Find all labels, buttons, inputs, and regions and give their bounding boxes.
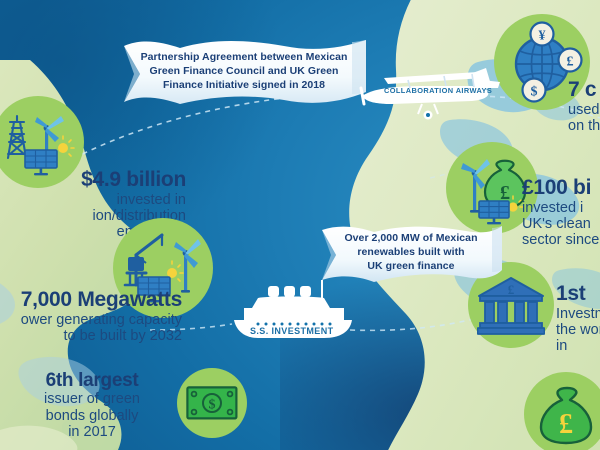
stat-billion-headline: $4.9 billion bbox=[0, 168, 186, 192]
renewables-banner-text: Over 2,000 MW of Mexican renewables buil… bbox=[318, 222, 504, 284]
stat-currencies-headline: 7 c bbox=[568, 78, 600, 102]
airplane: COLLABORATION AIRWAYS bbox=[352, 58, 502, 120]
stat-bonds-line-3: in 2017 bbox=[16, 424, 168, 440]
moneybag-corner-symbol: £ bbox=[559, 409, 573, 440]
pylon-turbine-solar-icon bbox=[1, 108, 75, 176]
stat-bonds-line-2: bonds globally bbox=[16, 408, 168, 424]
stat-currencies-line-2: on th bbox=[568, 118, 600, 134]
stat-investment-rank: 1st Investm the wor in bbox=[556, 282, 600, 354]
stat-megawatts-line-2: to be built by 2032 bbox=[0, 328, 182, 344]
stat-rank-line-2: the wor bbox=[556, 322, 600, 338]
stat-currencies-line-1: used bbox=[568, 102, 600, 118]
stat-rank-line-3: in bbox=[556, 338, 600, 354]
ship-label: S.S. INVESTMENT bbox=[250, 326, 334, 336]
stat-clean-energy-line-1: invested i bbox=[522, 200, 600, 216]
partnership-line-3: Finance Initiative signed in 2018 bbox=[163, 79, 325, 93]
badge-banknote: $ bbox=[177, 368, 247, 438]
partnership-line-1: Partnership Agreement between Mexican bbox=[141, 51, 348, 65]
stat-rank-headline: 1st bbox=[556, 282, 600, 306]
stat-bonds-headline: 6th largest bbox=[16, 370, 168, 391]
stat-clean-energy: £100 bi invested i UK's clean sector sin… bbox=[522, 176, 600, 248]
bank-symbol: £ bbox=[508, 282, 515, 297]
stat-megawatts-headline: 7,000 Megawatts bbox=[0, 288, 182, 312]
stat-billion-line-1: invested in bbox=[0, 192, 186, 208]
globe-symbol-pound: £ bbox=[567, 55, 574, 70]
partnership-banner-text: Partnership Agreement between Mexican Gr… bbox=[118, 36, 370, 108]
partnership-banner: Partnership Agreement between Mexican Gr… bbox=[118, 36, 370, 108]
banknote-dollar-icon: $ bbox=[186, 386, 238, 420]
stat-rank-line-1: Investm bbox=[556, 306, 600, 322]
globe-symbol-dollar: $ bbox=[531, 85, 538, 100]
renewables-line-1: Over 2,000 MW of Mexican bbox=[344, 232, 477, 246]
renewables-banner: Over 2,000 MW of Mexican renewables buil… bbox=[318, 222, 504, 284]
stat-bonds-line-1: issuer of green bbox=[16, 391, 168, 407]
partnership-line-2: Green Finance Council and UK Green bbox=[150, 65, 339, 79]
infographic-canvas: $4.9 billion invested in ion/distributio… bbox=[0, 0, 600, 450]
stat-megawatts: 7,000 Megawatts ower generating capacity… bbox=[0, 288, 182, 344]
banknote-symbol: $ bbox=[209, 398, 216, 413]
stat-clean-energy-headline: £100 bi bbox=[522, 176, 600, 200]
stat-clean-energy-line-2: UK's clean bbox=[522, 216, 600, 232]
moneybag-pound-icon: £ bbox=[535, 383, 597, 445]
airplane-label: COLLABORATION AIRWAYS bbox=[384, 86, 492, 95]
stat-megawatts-line-1: ower generating capacity bbox=[0, 312, 182, 328]
renewables-line-3: UK green finance bbox=[367, 260, 454, 274]
stat-green-bonds: 6th largest issuer of green bonds global… bbox=[16, 370, 168, 440]
badge-moneybag-corner: £ bbox=[524, 372, 600, 450]
globe-symbol-yen: ¥ bbox=[539, 29, 546, 44]
stat-currencies: 7 c used on th bbox=[568, 78, 600, 134]
ship: S.S. INVESTMENT bbox=[224, 276, 358, 346]
moneybag-turbine-solar-icon: £ bbox=[453, 151, 531, 225]
stat-clean-energy-line-3: sector since bbox=[522, 232, 600, 248]
renewables-line-2: renewables built with bbox=[357, 246, 464, 260]
